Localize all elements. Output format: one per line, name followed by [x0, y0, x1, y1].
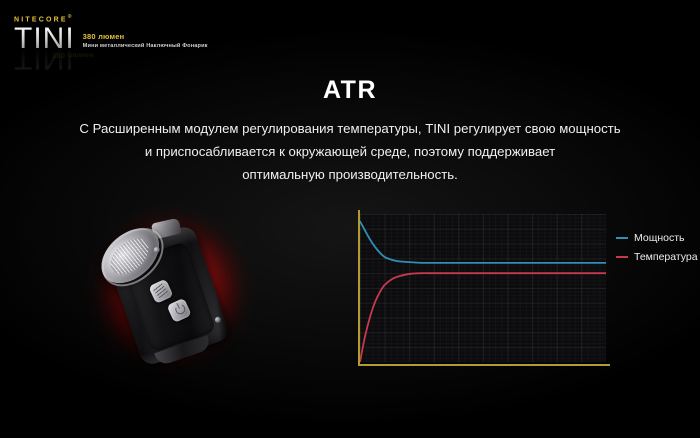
atr-performance-chart: Мощность Температура: [344, 214, 614, 374]
legend-item-temperature: Температура: [616, 251, 700, 263]
temperature-curve: [360, 273, 606, 362]
page-title: ATR: [0, 76, 700, 105]
legend-label-power: Мощность: [634, 232, 685, 244]
registered-mark-icon: ®: [68, 14, 74, 20]
brand-lumens: 380 люмен: [83, 32, 208, 41]
paragraph-line-3: оптимальную производительность.: [30, 163, 670, 186]
power-icon: [173, 303, 186, 316]
product-photo: [72, 206, 272, 374]
brand-lumens-reflection: 380 люмен: [52, 51, 172, 60]
chart-x-axis: [358, 364, 610, 366]
power-curve: [360, 221, 606, 262]
slide-canvas: TINI 380 люмен Мини металлический Наключ…: [0, 0, 700, 438]
chart-legend: Мощность Температура: [616, 232, 700, 270]
brightness-icon: [153, 284, 168, 299]
legend-item-power: Мощность: [616, 232, 700, 244]
description-paragraph: С Расширенным модулем регулирования темп…: [30, 117, 670, 186]
brand-lockup: TINI 380 люмен Мини металлический Наключ…: [14, 13, 264, 73]
legend-label-temperature: Температура: [634, 251, 698, 263]
paragraph-line-2: и приспосабливается к окружающей среде, …: [30, 140, 670, 163]
paragraph-line-1: С Расширенным модулем регулирования темп…: [30, 117, 670, 140]
legend-swatch-power: [616, 237, 628, 239]
chart-series-svg: [360, 214, 606, 362]
legend-swatch-temperature: [616, 256, 628, 258]
brand-sub-reflection: 380 люмен Мини металлический Наключный Ф…: [52, 46, 172, 60]
